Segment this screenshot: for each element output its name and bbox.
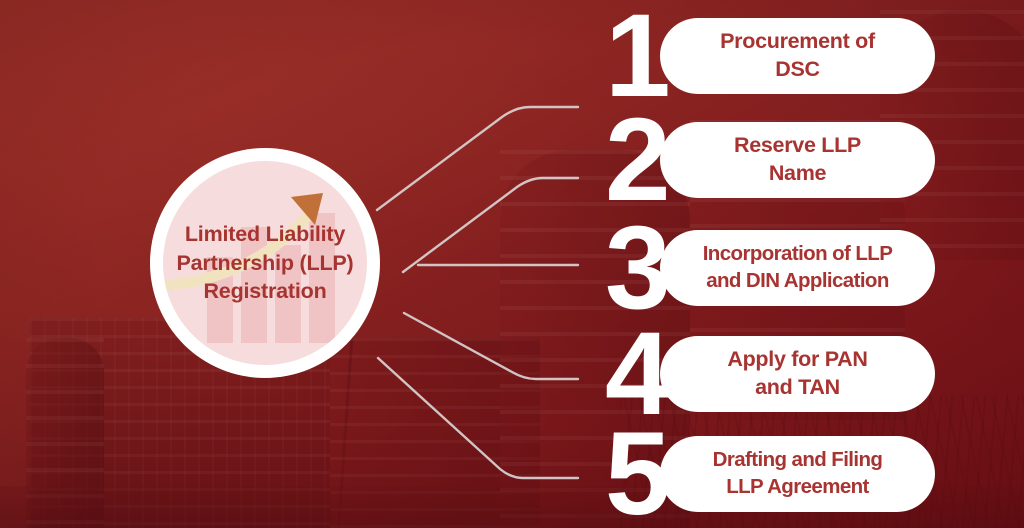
connector-step-4 — [404, 313, 578, 379]
hub-title: Limited Liability Partnership (LLP) Regi… — [160, 220, 370, 306]
connector-step-5 — [378, 358, 578, 478]
step-item-3[interactable]: 3 Incorporation of LLP and DIN Applicati… — [605, 218, 895, 318]
connector-step-2 — [403, 178, 578, 272]
hub-title-line-3: Registration — [160, 277, 370, 306]
step-number-1: 1 — [605, 10, 667, 102]
hub-circle: Limited Liability Partnership (LLP) Regi… — [150, 148, 380, 378]
step-item-1[interactable]: 1 Procurement of DSC — [605, 6, 895, 106]
connector-step-1 — [377, 107, 578, 210]
step-label-2: Reserve LLP Name — [734, 132, 861, 188]
step-pill-2[interactable]: Reserve LLP Name — [660, 122, 935, 198]
step-pill-1[interactable]: Procurement of DSC — [660, 18, 935, 94]
step-item-5[interactable]: 5 Drafting and Filing LLP Agreement — [605, 424, 895, 524]
step-item-2[interactable]: 2 Reserve LLP Name — [605, 110, 895, 210]
hub-title-line-2: Partnership (LLP) — [160, 249, 370, 278]
step-label-1: Procurement of DSC — [720, 28, 875, 84]
step-label-3: Incorporation of LLP and DIN Application — [703, 241, 893, 294]
hub-title-line-1: Limited Liability — [160, 220, 370, 249]
llp-registration-infographic: Limited Liability Partnership (LLP) Regi… — [0, 0, 1024, 528]
step-pill-3[interactable]: Incorporation of LLP and DIN Application — [660, 230, 935, 306]
step-label-4: Apply for PAN and TAN — [727, 346, 867, 402]
step-pill-4[interactable]: Apply for PAN and TAN — [660, 336, 935, 412]
step-number-5: 5 — [605, 428, 667, 520]
step-number-3: 3 — [605, 222, 667, 314]
step-number-4: 4 — [605, 328, 667, 420]
step-label-5: Drafting and Filing LLP Agreement — [713, 447, 883, 500]
step-pill-5[interactable]: Drafting and Filing LLP Agreement — [660, 436, 935, 512]
step-number-2: 2 — [605, 114, 667, 206]
